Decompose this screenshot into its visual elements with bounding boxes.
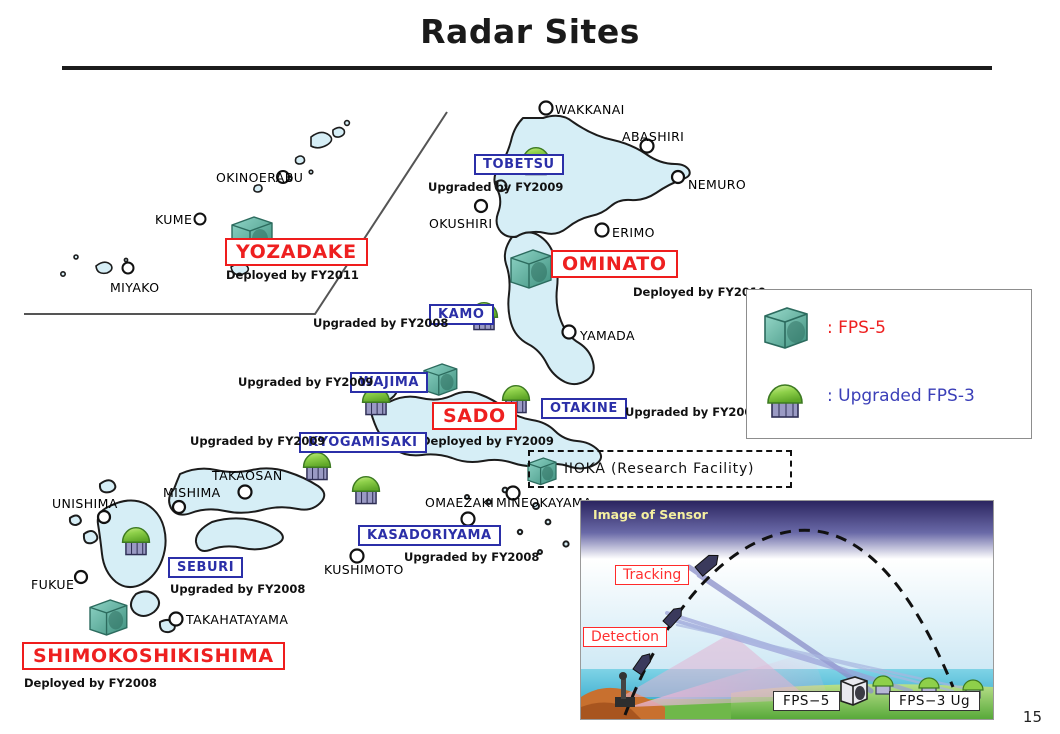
site-box-ominato[interactable]: OMINATO <box>551 250 678 278</box>
site-note-yozadake: Deployed by FY2011 <box>226 268 359 282</box>
fps5-box-icon <box>763 306 809 350</box>
marker-takaosan <box>239 486 252 499</box>
city-label-yamada: YAMADA <box>580 328 635 343</box>
site-note-wajima: Upgraded by FY2009 <box>238 375 373 389</box>
map-legend: : FPS-5 : Upgraded FPS-3 <box>746 289 1032 439</box>
city-label-fukue: FUKUE <box>31 577 74 592</box>
site-box-otakine[interactable]: OTAKINE <box>541 398 627 419</box>
marker-omaezaki <box>462 513 475 526</box>
city-label-kume: KUME <box>155 212 192 227</box>
city-label-mishima: MISHIMA <box>163 485 221 500</box>
marker-nemuro <box>672 171 684 183</box>
marker-yamada <box>563 326 576 339</box>
inset-fps5-label: FPS−5 <box>773 691 840 711</box>
sensor-image-inset: Image of Sensor Tracking Detection FPS−5… <box>580 500 994 720</box>
inset-fps3-label: FPS−3 Ug <box>889 691 980 711</box>
marker-fukue <box>75 571 87 583</box>
city-label-abashiri: ABASHIRI <box>622 129 684 144</box>
site-note-kyogamisaki: Upgraded by FY2009 <box>190 434 325 448</box>
city-label-erimo: ERIMO <box>612 225 655 240</box>
marker-kushimoto <box>351 550 364 563</box>
site-box-shimokoshikishima[interactable]: SHIMOKOSHIKISHIMA <box>22 642 285 670</box>
legend-label-fps3: : Upgraded FPS-3 <box>827 386 975 406</box>
sensor-diagram <box>581 501 993 719</box>
city-label-nemuro: NEMURO <box>688 177 746 192</box>
marker-takahatayama <box>170 613 183 626</box>
city-label-okinoerabu: OKINOERABU <box>216 170 303 185</box>
legend-label-fps5: : FPS-5 <box>827 318 886 338</box>
marker-mishima <box>173 501 185 513</box>
city-label-okushiri: OKUSHIRI <box>429 216 492 231</box>
site-note-kasadoriyama: Upgraded by FY2008 <box>404 550 539 564</box>
site-box-tobetsu[interactable]: TOBETSU <box>474 154 564 175</box>
city-label-unishima: UNISHIMA <box>52 496 118 511</box>
site-note-otakine: Upgraded by FY2008 <box>625 405 760 419</box>
page-number: 15 <box>1023 708 1042 726</box>
site-note-sado: Deployed by FY2009 <box>421 434 554 448</box>
marker-unishima <box>98 511 110 523</box>
city-label-kushimoto: KUSHIMOTO <box>324 562 404 577</box>
city-label-takaosan: TAKAOSAN <box>212 468 283 483</box>
inset-tracking-label: Tracking <box>615 565 689 585</box>
marker-wakkanai <box>540 102 553 115</box>
page-title: Radar Sites <box>0 12 1060 51</box>
city-label-wakkanai: WAKKANAI <box>555 102 625 117</box>
site-note-tobetsu: Upgraded by FY2009 <box>428 180 563 194</box>
site-box-seburi[interactable]: SEBURI <box>168 557 243 578</box>
fps3-dome-icon <box>763 372 809 420</box>
okinawa-inset-frame <box>24 112 447 314</box>
city-label-takahatayama: TAKAHATAYAMA <box>186 612 288 627</box>
site-note-shimokoshikishima: Deployed by FY2008 <box>24 676 157 690</box>
city-label-mineokayama: MINEOKAYAMA <box>496 495 592 510</box>
site-box-sado[interactable]: SADO <box>432 402 517 430</box>
site-box-iioka[interactable]: IIOKA (Research Facility) <box>528 450 792 488</box>
title-divider <box>62 66 992 70</box>
site-note-seburi: Upgraded by FY2008 <box>170 582 305 596</box>
city-label-miyako: MIYAKO <box>110 280 159 295</box>
inset-fps5-icon <box>841 677 867 705</box>
legend-item-fps3: : Upgraded FPS-3 <box>763 372 975 420</box>
site-box-kasadoriyama[interactable]: KASADORIYAMA <box>358 525 501 546</box>
slide-root: Radar Sites <box>0 0 1060 734</box>
legend-item-fps5: : FPS-5 <box>763 306 886 350</box>
inset-detection-label: Detection <box>583 627 667 647</box>
inset-title: Image of Sensor <box>593 507 708 522</box>
site-note-kamo: Upgraded by FY2008 <box>313 316 448 330</box>
site-box-yozadake[interactable]: YOZADAKE <box>225 238 368 266</box>
marker-erimo <box>596 224 609 237</box>
marker-okushiri <box>475 200 487 212</box>
city-label-omaezaki: OMAEZAKI <box>425 495 494 510</box>
